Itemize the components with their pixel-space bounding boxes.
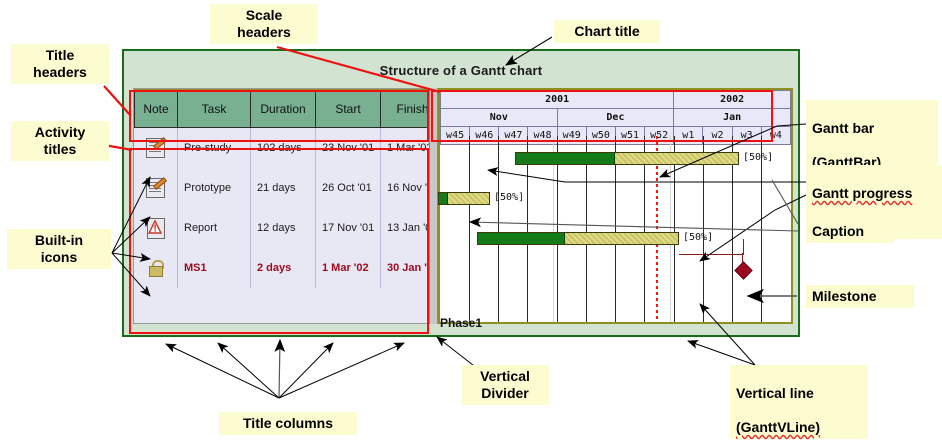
annotation-title-columns: Title columns — [219, 412, 357, 435]
annotation-vertical-line: Vertical line (GanttVLine) — [730, 365, 868, 439]
chart-title: Structure of a Gantt chart — [124, 63, 798, 78]
annotation-chart-title: Chart title — [554, 20, 660, 43]
gridline — [498, 136, 499, 322]
milestone-connector — [679, 239, 744, 255]
prototype-bar[interactable] — [438, 192, 490, 205]
gridline — [469, 136, 470, 322]
prototype-caption: [50%] — [494, 192, 524, 203]
pre-study-bar[interactable] — [515, 152, 739, 165]
annotation-vertical-line-line1: Vertical line — [736, 385, 814, 401]
annotation-builtin-icons: Built-in icons — [7, 229, 111, 269]
highlight-title-columns — [129, 148, 429, 334]
ms1-milestone[interactable] — [734, 261, 752, 279]
annotation-gantt-bar-line1: Gantt bar — [812, 120, 874, 136]
annotation-milestone: Milestone — [806, 285, 914, 308]
highlight-scale-headers — [431, 90, 773, 142]
report-bar[interactable] — [477, 232, 679, 245]
annotation-activity-titles: Activity titles — [11, 121, 109, 161]
report-progress-indicator — [478, 233, 565, 244]
annotation-gantt-progress-line1: Gantt progress — [812, 185, 912, 201]
annotation-vertical-divider: Vertical Divider — [461, 365, 549, 405]
annotation-gantt-bar: Gantt bar (GanttBar) — [806, 100, 938, 174]
annotation-caption: Caption — [806, 220, 894, 243]
gantt-grid: [50%] [50%] [50%] — [440, 136, 791, 322]
annotation-scale-headers: Scale headers — [210, 4, 318, 44]
gridline — [761, 136, 762, 322]
pre-study-progress-indicator — [516, 153, 615, 164]
pre-study-caption: [50%] — [743, 152, 773, 163]
highlight-title-headers — [129, 90, 429, 142]
annotation-title-headers: Title headers — [11, 44, 109, 84]
annotation-vertical-line-line2: (GanttVLine) — [736, 419, 820, 435]
prototype-progress-indicator — [439, 193, 448, 204]
